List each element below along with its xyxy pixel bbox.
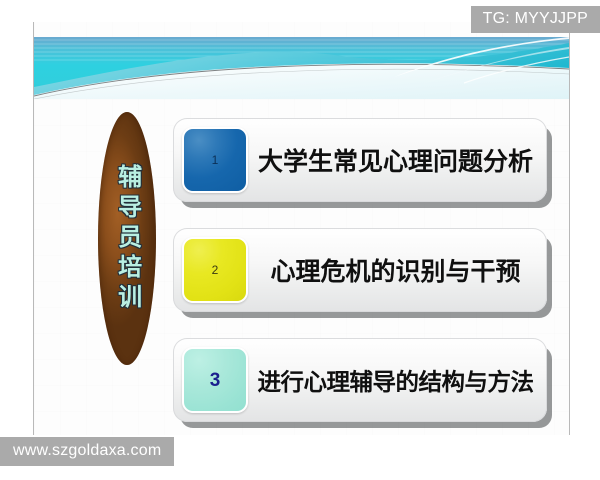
vertical-title-ellipse: 辅导员培训 (98, 112, 156, 365)
row-number-1: 1 (212, 154, 219, 166)
watermark-bottom-left: www.szgoldaxa.com (0, 437, 174, 466)
row-number-2: 2 (212, 264, 219, 276)
agenda-row-3[interactable]: 3 进行心理辅导的结构与方法 (173, 338, 547, 422)
agenda-list: 1 大学生常见心理问题分析 2 心理危机的识别与干预 3 进行心理辅导的结构与方… (173, 22, 569, 435)
vertical-title-text: 辅导员培训 (114, 164, 139, 314)
row-number-3: 3 (210, 371, 221, 390)
row-label-3: 进行心理辅导的结构与方法 (248, 363, 547, 397)
row-number-badge-2: 2 (182, 237, 248, 303)
agenda-row-2[interactable]: 2 心理危机的识别与干预 (173, 228, 547, 312)
row-number-badge-3: 3 (182, 347, 248, 413)
agenda-row-1[interactable]: 1 大学生常见心理问题分析 (173, 118, 547, 202)
row-number-badge-1: 1 (182, 127, 248, 193)
row-label-1: 大学生常见心理问题分析 (248, 142, 547, 178)
watermark-top-right: TG: MYYJJPP (471, 6, 600, 33)
slide-root: 辅导员培训 1 大学生常见心理问题分析 2 心理危机的识别与干预 3 进行心 (0, 0, 600, 480)
row-label-2: 心理危机的识别与干预 (248, 252, 547, 288)
slide-canvas: 辅导员培训 1 大学生常见心理问题分析 2 心理危机的识别与干预 3 进行心 (33, 22, 570, 435)
